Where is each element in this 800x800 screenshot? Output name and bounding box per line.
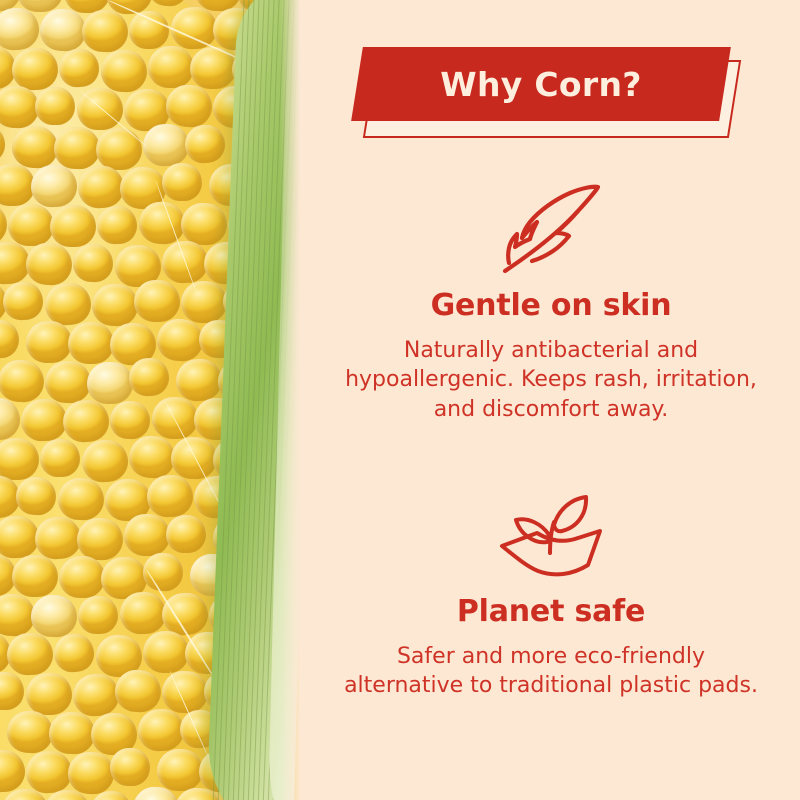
feather-icon	[302, 175, 800, 283]
feature-gentle-on-skin: Gentle on skin Naturally antibacterial a…	[302, 175, 800, 424]
feature-title: Gentle on skin	[302, 289, 800, 322]
banner-plate: Why Corn?	[351, 47, 731, 121]
feature-body: Naturally antibacterial and hypoallergen…	[341, 336, 761, 424]
photo-edge-fade	[280, 0, 302, 800]
feature-title: Planet safe	[302, 595, 800, 628]
content-panel: Why Corn? Gentle on skin Naturally antib…	[302, 0, 800, 800]
banner: Why Corn?	[357, 47, 747, 139]
banner-title: Why Corn?	[357, 47, 725, 121]
corn-photo	[0, 0, 302, 800]
feature-planet-safe: Planet safe Safer and more eco-friendly …	[302, 483, 800, 701]
feature-body: Safer and more eco-friendly alternative …	[341, 642, 761, 701]
sprout-leaf-icon	[302, 483, 800, 591]
why-corn-poster: Why Corn? Gentle on skin Naturally antib…	[0, 0, 800, 800]
